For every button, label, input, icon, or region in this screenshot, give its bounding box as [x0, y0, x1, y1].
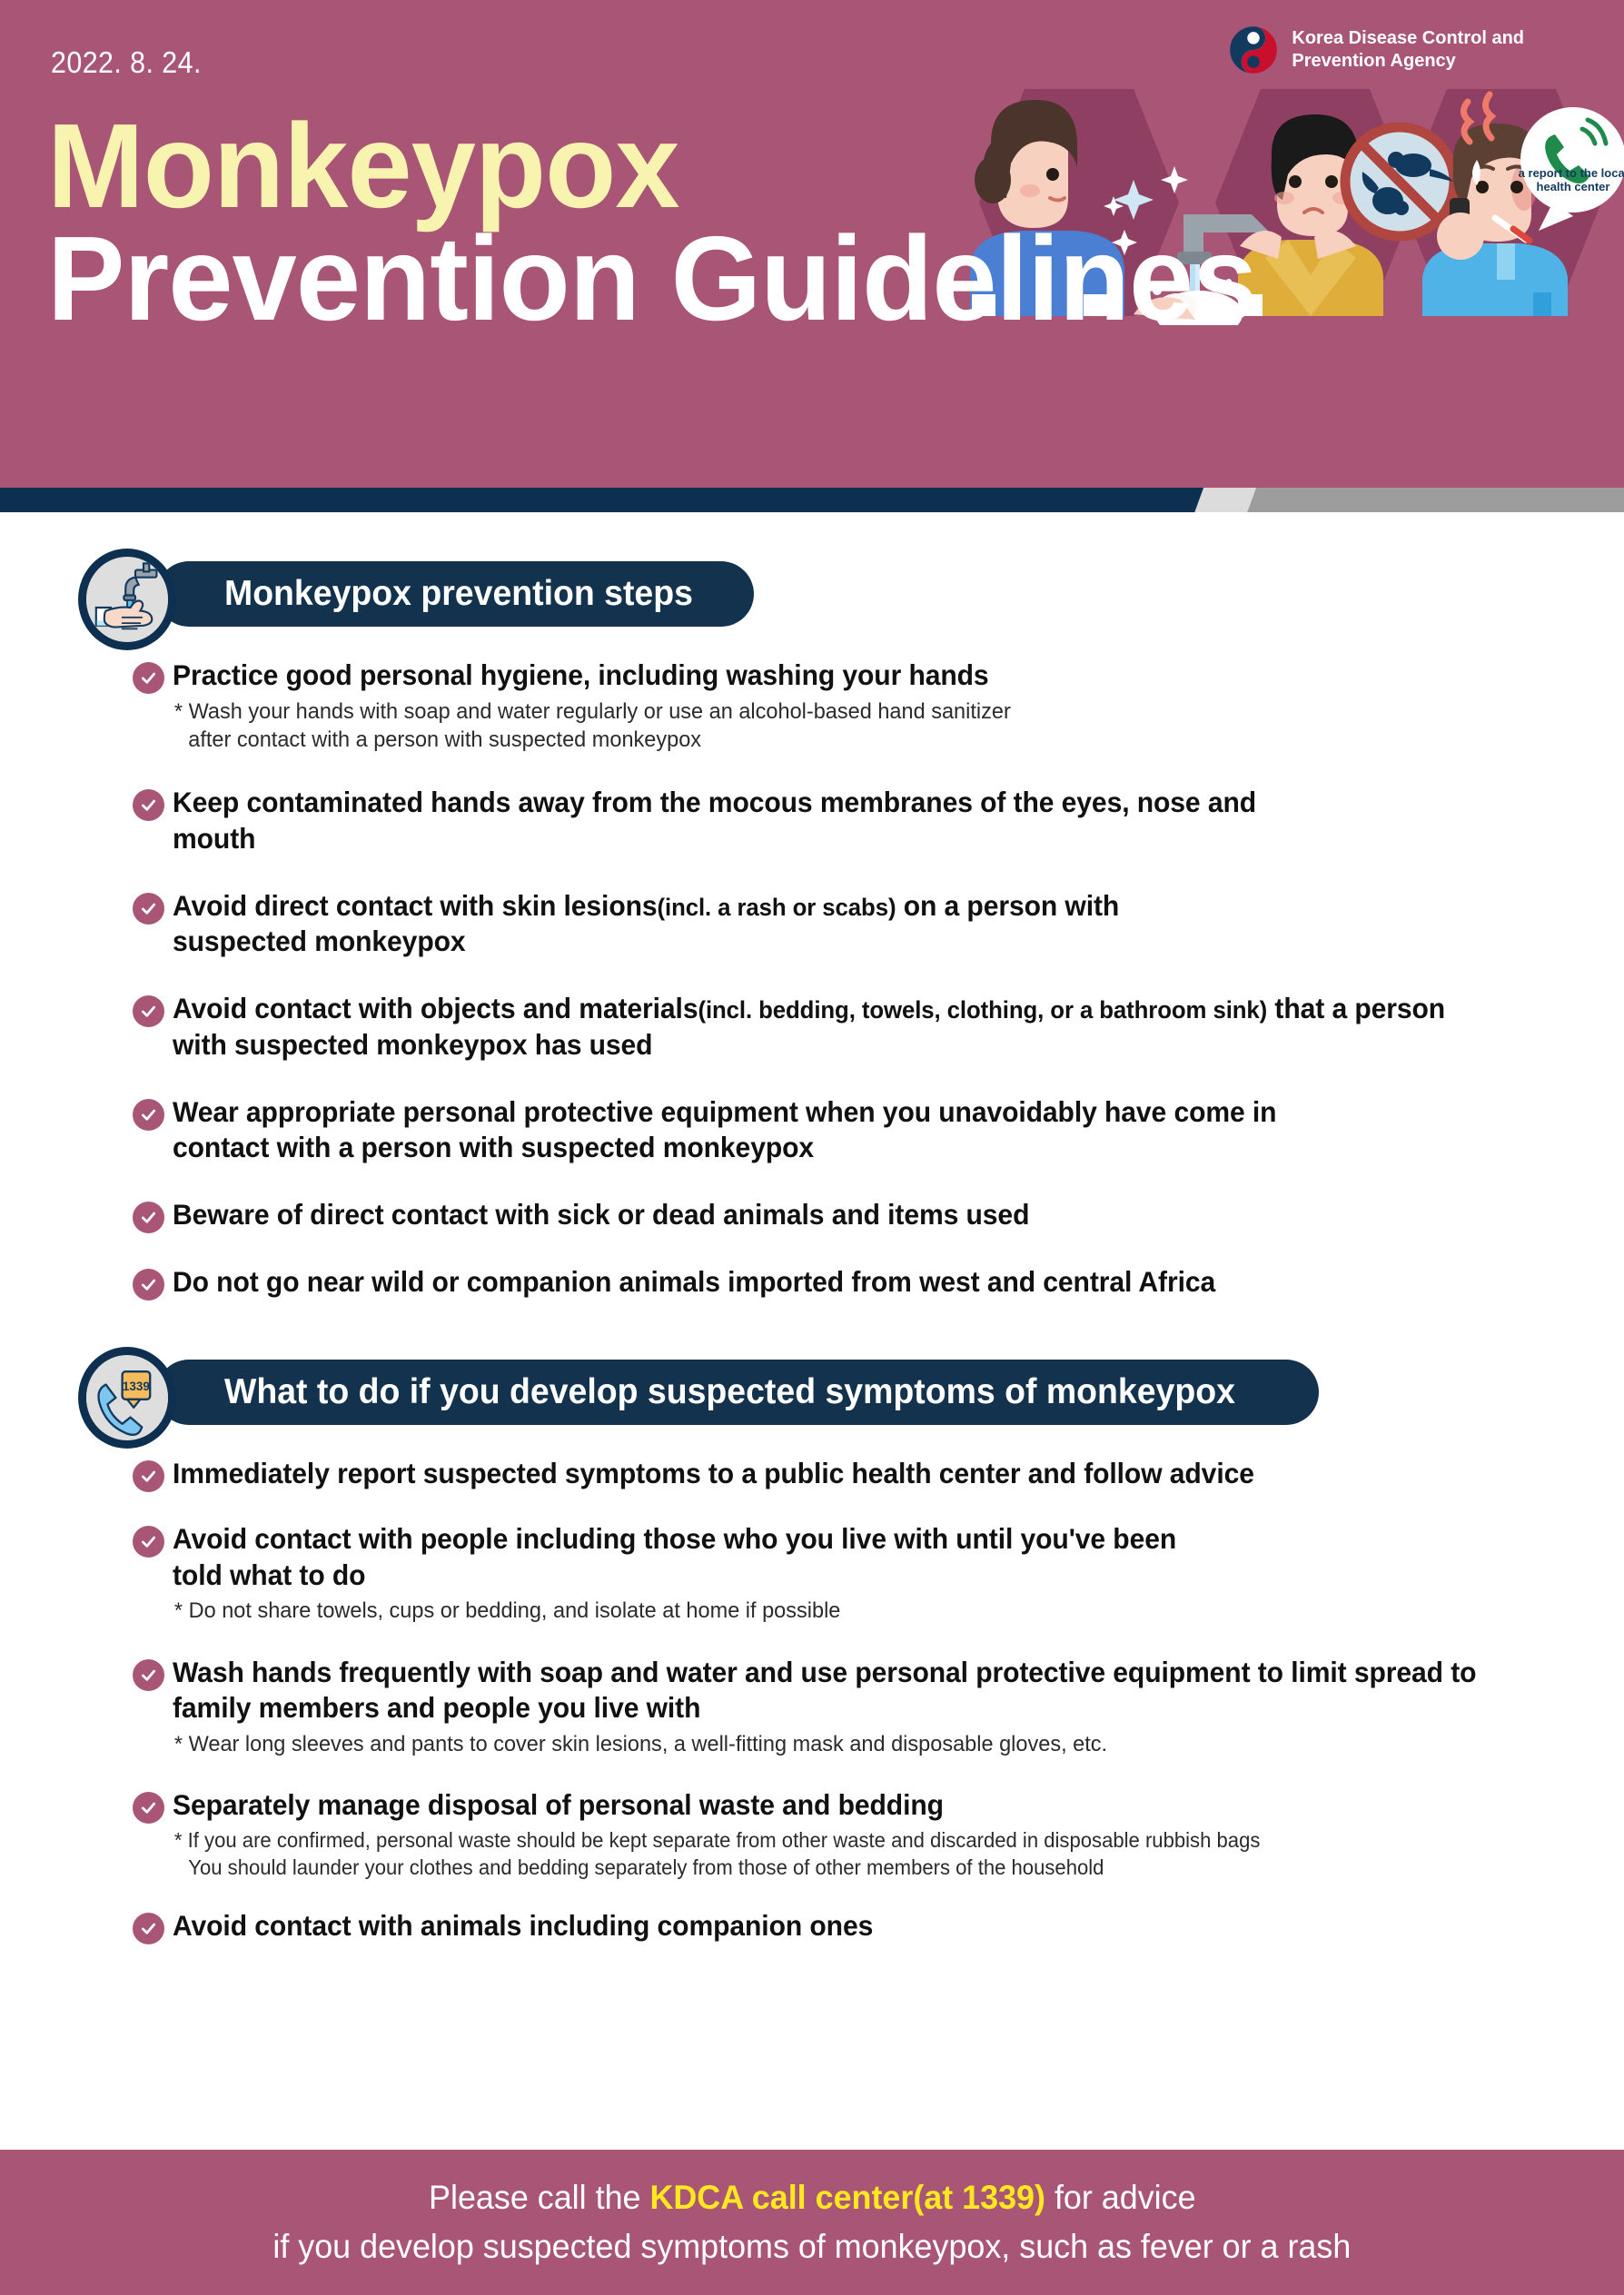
check-circle-icon: [133, 789, 164, 821]
bullet-text: Avoid direct contact with skin lesions(i…: [173, 888, 1204, 960]
kdca-logo: Korea Disease Control and Prevention Age…: [1228, 25, 1524, 75]
list-item: Avoid contact with animals including com…: [173, 1908, 1588, 1944]
check-circle-icon: [133, 1526, 164, 1558]
footer-text-pre: Please call the: [429, 2179, 649, 2216]
section-1-header: Monkeypox prevention steps: [78, 549, 1624, 650]
bullet-text-pre: Avoid direct contact with skin lesions: [173, 889, 658, 922]
check-circle-icon: [133, 1792, 164, 1824]
bubble-line2: health center: [1537, 180, 1610, 193]
list-item: Avoid direct contact with skin lesions(i…: [173, 888, 1588, 960]
footer-line-2: if you develop suspected symptoms of mon…: [273, 2222, 1352, 2271]
bullet-note: * Do not share towels, cups or bedding, …: [173, 1597, 1531, 1625]
bullet-text-small: (incl. bedding, towels, clothing, or a b…: [698, 996, 1267, 1024]
title-line-1: Monkeypox: [47, 107, 1256, 224]
bullet-note-line: after contact with a person with suspect…: [174, 726, 1531, 754]
section-2-title: What to do if you develop suspected symp…: [224, 1372, 1235, 1412]
kdca-name-line1: Korea Disease Control and: [1292, 27, 1524, 50]
bullet-text: Do not go near wild or companion animals…: [173, 1264, 1524, 1301]
section-suspected-symptoms: 1339 What to do if you develop suspected…: [0, 1347, 1624, 1944]
section-2-title-pill: What to do if you develop suspected symp…: [156, 1360, 1319, 1425]
list-item: Immediately report suspected symptoms to…: [173, 1456, 1588, 1492]
bullet-note: * Wash your hands with soap and water re…: [173, 697, 1531, 755]
bullet-text: Practice good personal hygiene, includin…: [173, 658, 1524, 694]
bullet-text: Separately manage disposal of personal w…: [173, 1787, 1524, 1824]
bullet-text: Avoid contact with animals including com…: [173, 1908, 1524, 1944]
title-line-2: Prevention Guidelines: [47, 219, 1256, 339]
list-item: Wear appropriate personal protective equ…: [173, 1094, 1588, 1166]
list-item: Wash hands frequently with soap and wate…: [173, 1655, 1588, 1759]
list-item: Practice good personal hygiene, includin…: [173, 658, 1588, 754]
bullet-note: * Wear long sleeves and pants to cover s…: [173, 1730, 1531, 1758]
handwashing-icon: [78, 549, 176, 650]
bullet-text-small: (incl. a rash or scabs): [658, 894, 896, 921]
list-item: Avoid contact with people including thos…: [173, 1521, 1588, 1626]
publication-date: 2022. 8. 24.: [51, 45, 202, 80]
divider-gray-slash: [1245, 488, 1624, 512]
list-item: Keep contaminated hands away from the mo…: [173, 785, 1588, 856]
poster-title: Monkeypox Prevention Guidelines: [47, 107, 1294, 339]
bullet-text: Avoid contact with objects and materials…: [173, 991, 1448, 1063]
check-circle-icon: [133, 1099, 164, 1131]
footer-highlight: KDCA call center(at 1339): [649, 2179, 1045, 2216]
bullet-text: Avoid contact with people including thos…: [173, 1521, 1179, 1593]
footer-text-post: for advice: [1045, 2179, 1196, 2216]
bullet-text: Immediately report suspected symptoms to…: [173, 1456, 1524, 1492]
check-circle-icon: [133, 1659, 164, 1691]
check-circle-icon: [133, 893, 164, 925]
list-item: Beware of direct contact with sick or de…: [173, 1197, 1588, 1233]
poster-header: 2022. 8. 24. Korea Disease Control and P…: [0, 0, 1624, 488]
section-1-bullet-list: Practice good personal hygiene, includin…: [0, 658, 1624, 1300]
badge-number: 1339: [123, 1380, 150, 1393]
check-circle-icon: [133, 1460, 164, 1492]
bullet-note-line: * If you are confirmed, personal waste s…: [174, 1828, 1260, 1852]
section-2-header: 1339 What to do if you develop suspected…: [78, 1347, 1624, 1449]
poster-body: Monkeypox prevention steps Practice good…: [0, 549, 1624, 2173]
check-circle-icon: [133, 662, 164, 694]
bullet-note: * If you are confirmed, personal waste s…: [173, 1827, 1531, 1881]
check-circle-icon: [133, 1269, 164, 1301]
kdca-agency-name: Korea Disease Control and Prevention Age…: [1292, 27, 1524, 73]
bullet-note-line: You should launder your clothes and bedd…: [174, 1855, 1531, 1881]
list-item: Separately manage disposal of personal w…: [173, 1787, 1588, 1881]
list-item: Avoid contact with objects and materials…: [173, 991, 1588, 1063]
section-1-title-pill: Monkeypox prevention steps: [156, 561, 754, 627]
list-item: Do not go near wild or companion animals…: [173, 1264, 1588, 1301]
kdca-name-line2: Prevention Agency: [1292, 50, 1524, 73]
bullet-text: Keep contaminated hands away from the mo…: [173, 785, 1326, 856]
check-circle-icon: [133, 1913, 164, 1944]
bullet-note-line: * Wash your hands with soap and water re…: [174, 699, 1011, 724]
bullet-text-pre: Avoid contact with objects and materials: [173, 992, 698, 1024]
bullet-text: Wash hands frequently with soap and wate…: [173, 1655, 1491, 1726]
bullet-text: Beware of direct contact with sick or de…: [173, 1197, 1524, 1233]
check-circle-icon: [133, 1202, 164, 1233]
phone-1339-icon: 1339: [78, 1347, 176, 1449]
bullet-text: Wear appropriate personal protective equ…: [173, 1094, 1309, 1166]
kdca-taegeuk-icon: [1228, 25, 1279, 75]
section-2-bullet-list: Immediately report suspected symptoms to…: [0, 1456, 1624, 1944]
poster-footer: Please call the KDCA call center(at 1339…: [0, 2150, 1624, 2295]
bubble-line1: a report to the local: [1519, 166, 1624, 180]
header-divider: [0, 488, 1624, 512]
section-1-title: Monkeypox prevention steps: [224, 574, 693, 614]
check-circle-icon: [133, 995, 164, 1027]
poster: 2022. 8. 24. Korea Disease Control and P…: [0, 0, 1624, 2295]
footer-line-1: Please call the KDCA call center(at 1339…: [429, 2173, 1195, 2222]
section-prevention-steps: Monkeypox prevention steps Practice good…: [0, 549, 1624, 1300]
